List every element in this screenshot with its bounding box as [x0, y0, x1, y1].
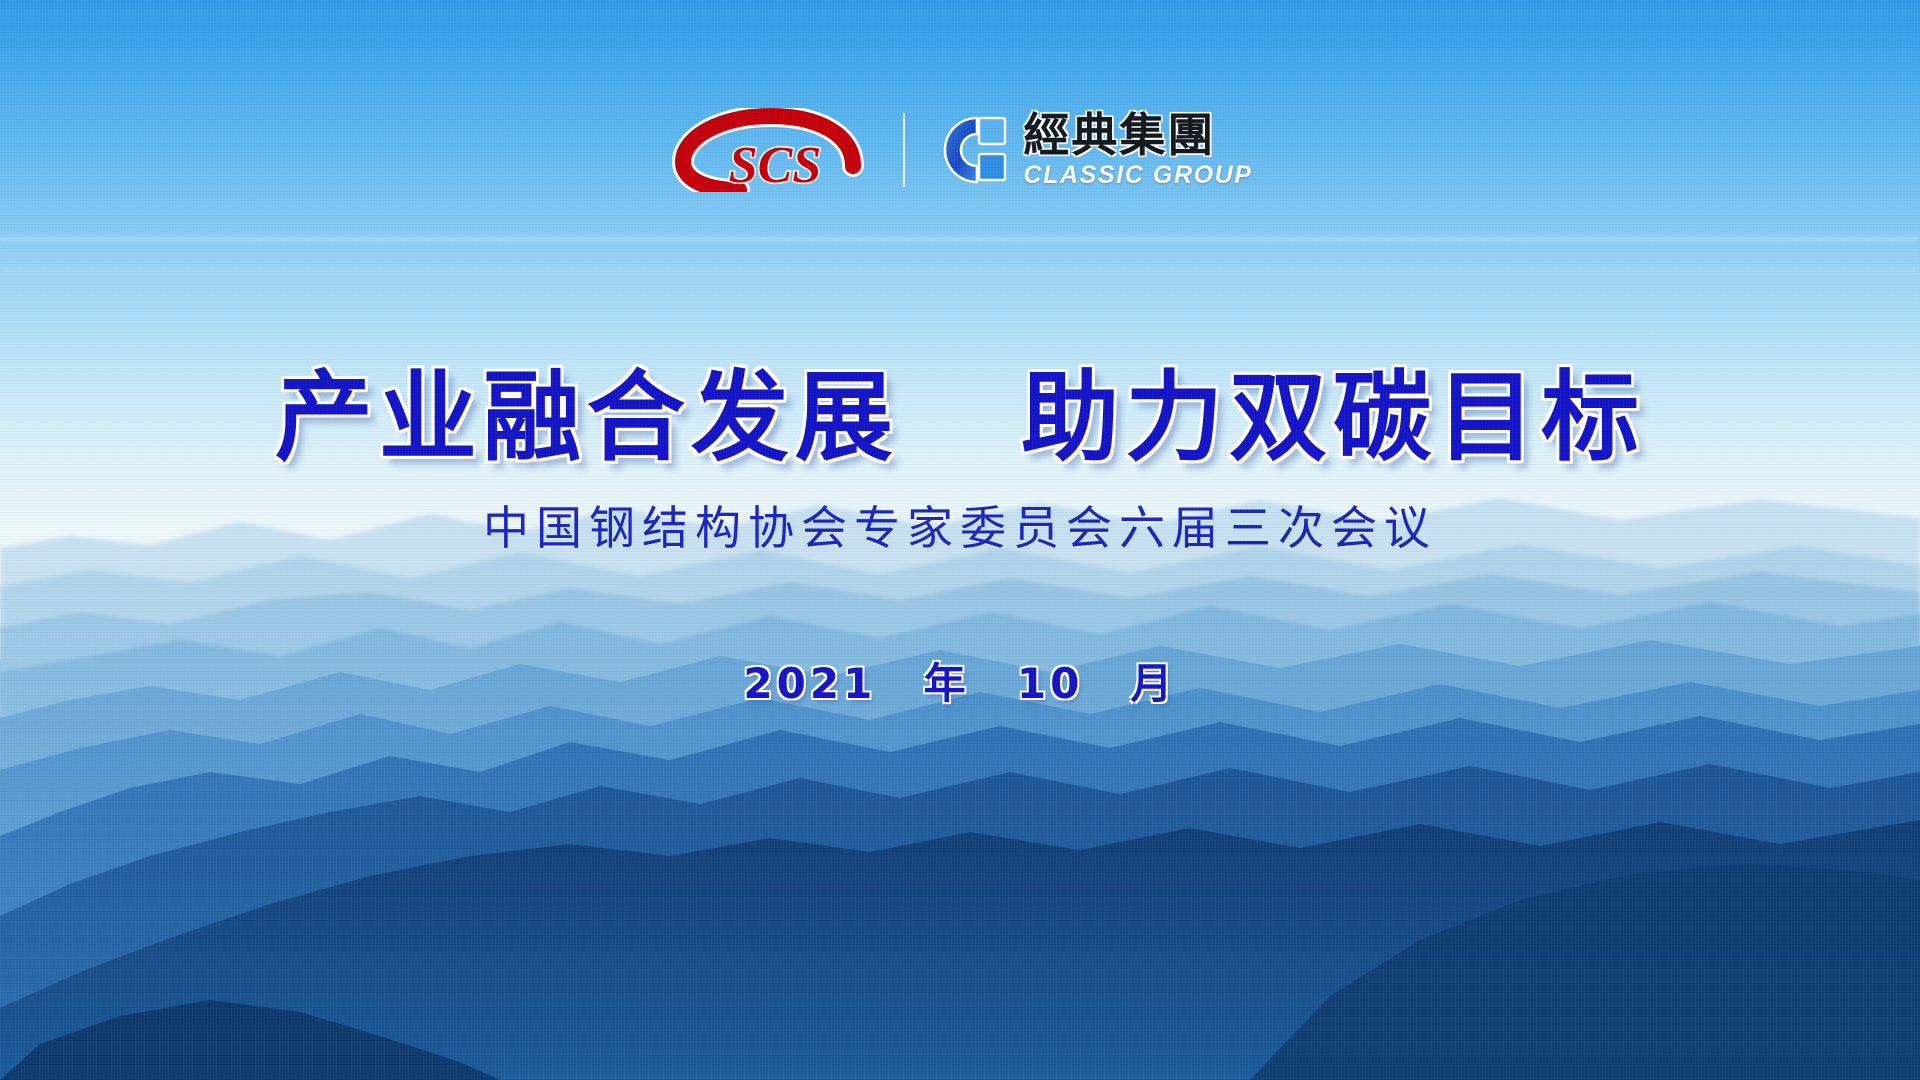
date-year: 2021 [743, 659, 876, 708]
classic-group-text: 經典集團 CLASSIC GROUP [1023, 112, 1252, 188]
classic-group-logo: 經典集團 CLASSIC GROUP [931, 112, 1252, 188]
page-title: 产业融合发展 助力双碳目标 [0, 338, 1920, 480]
poster-canvas: SCS [0, 0, 1920, 1080]
scs-wordmark: SCS [729, 137, 822, 192]
date-year-unit: 年 [924, 659, 970, 708]
logo-row: SCS [0, 108, 1920, 192]
classic-group-chinese-name: 經典集團 [1023, 112, 1215, 158]
date-month: 10 [1017, 659, 1083, 708]
date-month-unit: 月 [1131, 659, 1177, 708]
logo-divider [903, 113, 905, 187]
page-subtitle: 中国钢结构协会专家委员会六届三次会议 [0, 492, 1920, 558]
event-date: 2021 年 10 月 [0, 650, 1920, 711]
title-part-1: 产业融合发展 [275, 361, 899, 475]
classic-group-english-name: CLASSIC GROUP [1023, 163, 1252, 188]
scs-oval-logo: SCS [667, 108, 877, 192]
classic-group-c-mark [931, 112, 1009, 188]
title-part-2: 助力双碳目标 [1021, 361, 1645, 475]
